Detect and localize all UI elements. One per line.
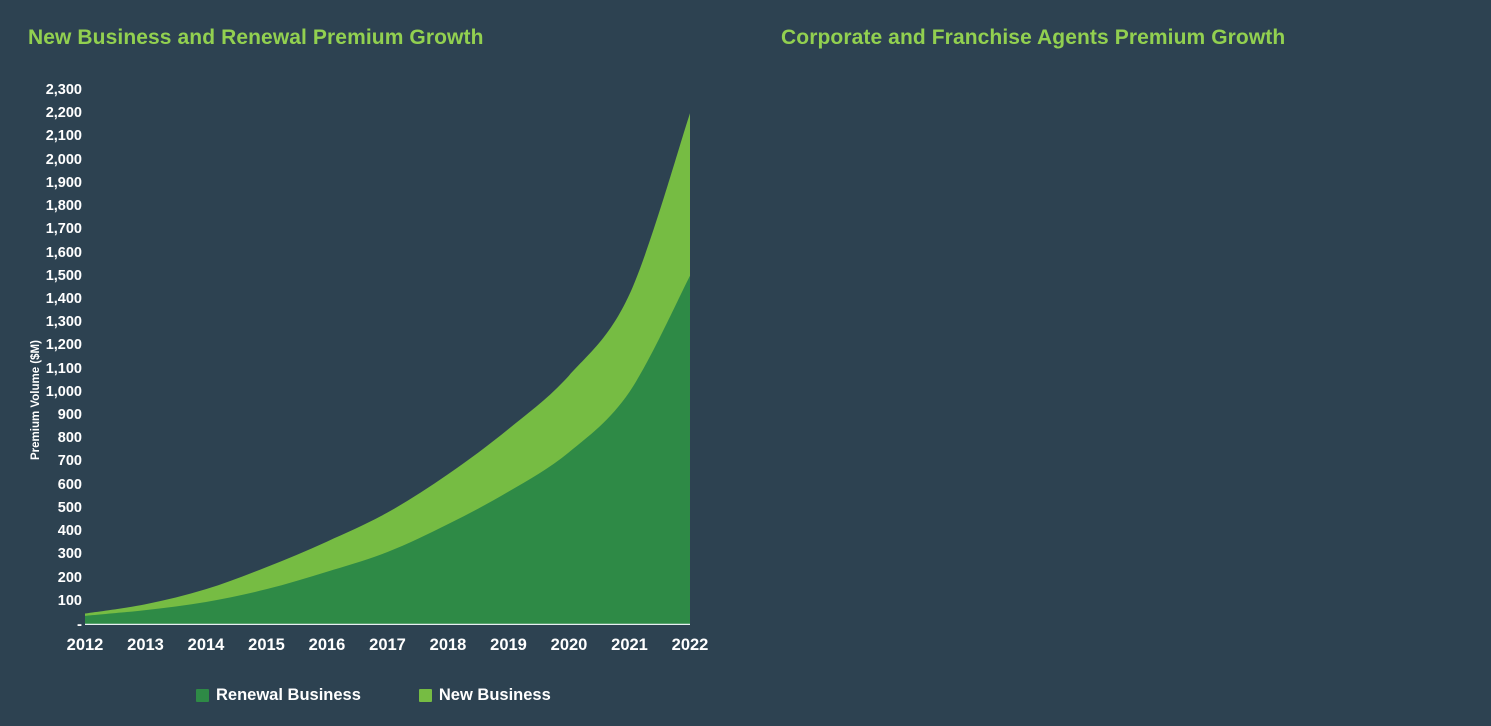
legend-swatch-icon [196,689,209,702]
x-axis-tick-label: 2018 [418,637,478,654]
x-axis-tick-label: 2019 [479,637,539,654]
x-axis-tick-label: 2021 [600,637,660,654]
x-axis-tick-label: 2020 [539,637,599,654]
x-axis-tick-label: 2013 [116,637,176,654]
legend-swatch-icon [419,689,432,702]
chart-title-right: Corporate and Franchise Agents Premium G… [781,26,1285,50]
legend-item[interactable]: New Business [419,686,551,705]
legend-label: New Business [439,686,551,705]
x-axis-tick-label: 2012 [55,637,115,654]
legend-label: Renewal Business [216,686,361,705]
dashboard: New Business and Renewal Premium Growth … [0,0,1491,726]
legend-left: Renewal BusinessNew Business [196,686,551,705]
x-axis-tick-label: 2022 [660,637,720,654]
x-axis-ticks-left: 2012201320142015201620172018201920202021… [0,0,751,726]
legend-item[interactable]: Renewal Business [196,686,361,705]
x-axis-tick-label: 2016 [297,637,357,654]
chart-panel-corporate-franchise: Corporate and Franchise Agents Premium G… [751,0,1491,726]
x-axis-tick-label: 2015 [237,637,297,654]
x-axis-tick-label: 2014 [176,637,236,654]
x-axis-tick-label: 2017 [358,637,418,654]
chart-panel-new-business-renewal: New Business and Renewal Premium Growth … [0,0,751,726]
